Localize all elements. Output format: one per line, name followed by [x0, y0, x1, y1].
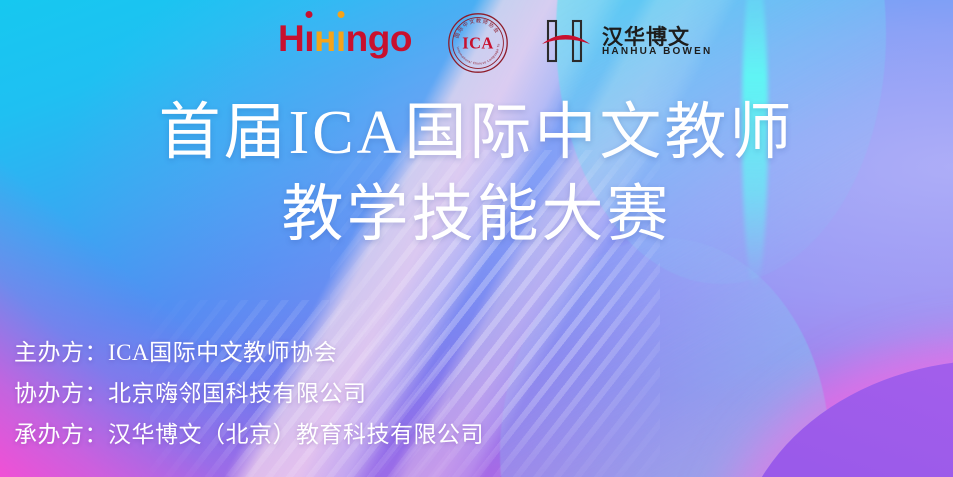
- hihingo-dot-1: [306, 11, 313, 18]
- poster-banner: Hıнıngo 国际中文教师协会 International Chinese L…: [0, 0, 953, 477]
- hanhua-english-name: HANHUA BOWEN: [602, 46, 712, 57]
- ica-logo: 国际中文教师协会 International Chinese Language …: [447, 12, 509, 74]
- hihingo-letter-h1: H: [278, 18, 304, 59]
- hanhua-h-arc-icon: [540, 18, 592, 64]
- event-title-line-1: 首届ICA国际中文教师: [0, 92, 953, 174]
- hihingo-logo: Hıнıngo: [278, 20, 412, 57]
- organizer-co-host: 协办方：北京嗨邻国科技有限公司: [14, 373, 634, 414]
- logo-row: Hıнıngo 国际中文教师协会 International Chinese L…: [0, 8, 953, 66]
- event-title-line-2: 教学技能大赛: [0, 174, 953, 256]
- hihingo-letter-h2: н: [314, 20, 336, 57]
- hihingo-letter-i1: ı: [304, 20, 314, 57]
- hihingo-letter-i2: ı: [336, 20, 346, 57]
- hihingo-dot-2: [337, 11, 344, 18]
- organizer-undertaker: 承办方：汉华博文（北京）教育科技有限公司: [14, 414, 634, 455]
- hihingo-letters-ngo: ngo: [346, 18, 412, 59]
- organizer-list: 主办方：ICA国际中文教师协会 协办方：北京嗨邻国科技有限公司 承办方：汉华博文…: [14, 332, 634, 455]
- hanhua-bowen-logo: 汉华博文 HANHUA BOWEN: [540, 16, 700, 68]
- svg-text:ICA: ICA: [462, 34, 493, 53]
- organizer-host: 主办方：ICA国际中文教师协会: [14, 332, 634, 373]
- event-title: 首届ICA国际中文教师 教学技能大赛: [0, 92, 953, 256]
